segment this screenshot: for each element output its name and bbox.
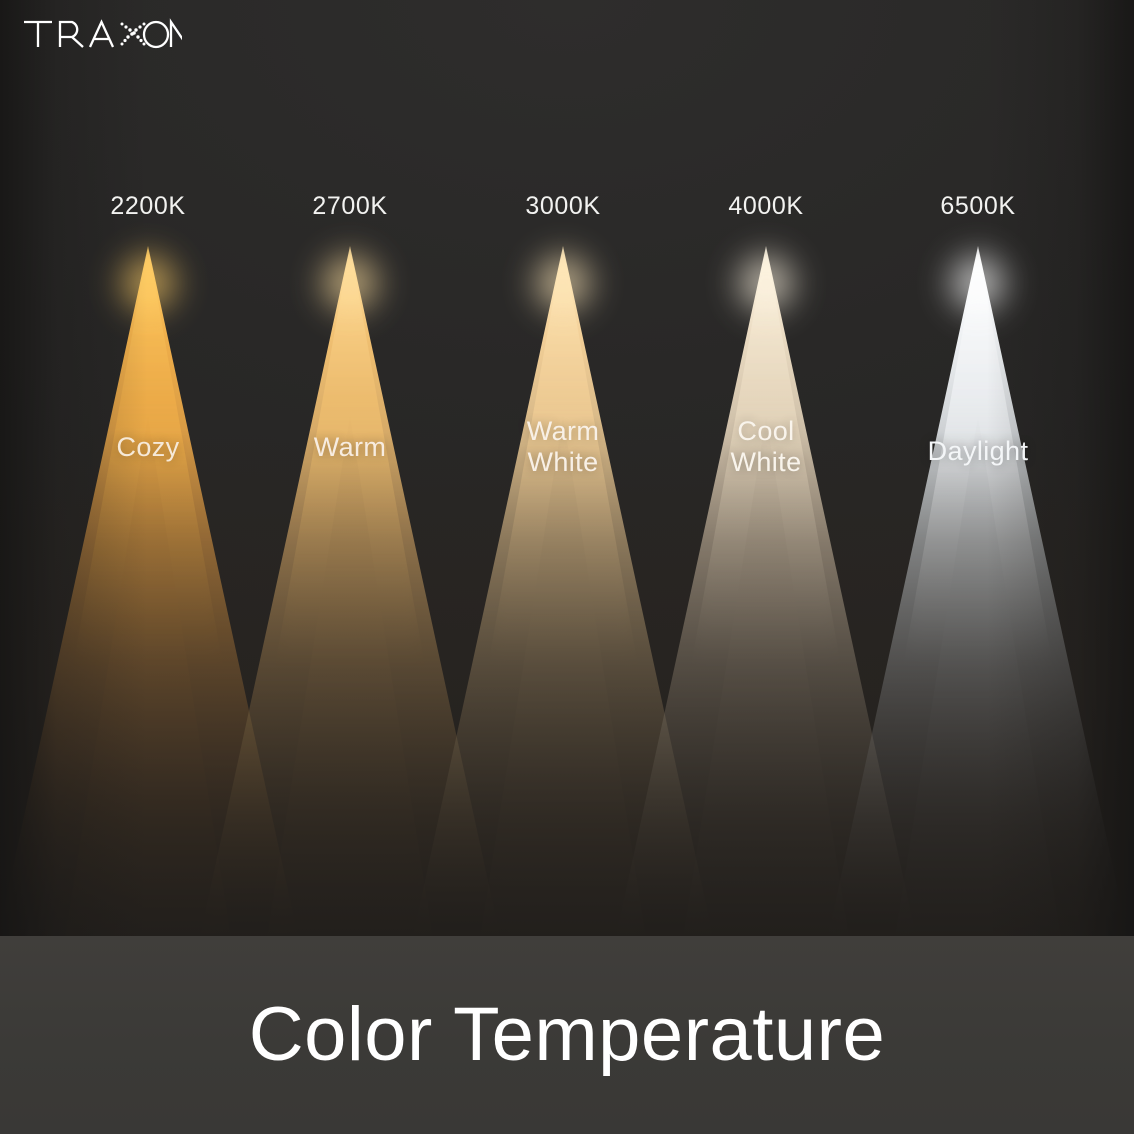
beam-cone bbox=[828, 246, 1128, 936]
beam-name-label-2700: Warm bbox=[314, 432, 387, 463]
dotted-x-glyph bbox=[121, 23, 146, 46]
brand-logo[interactable] bbox=[22, 17, 182, 51]
kelvin-label-4000: 4000K bbox=[728, 192, 803, 221]
beam-apex-glow bbox=[520, 240, 606, 326]
beam-apex-glow bbox=[307, 240, 393, 326]
beam-name-label-2200: Cozy bbox=[116, 432, 179, 463]
kelvin-label-3000: 3000K bbox=[525, 192, 600, 221]
page-title: Color Temperature bbox=[249, 997, 886, 1073]
beam-apex-glow bbox=[105, 240, 191, 326]
traxon-dotted-x-logo bbox=[22, 17, 182, 51]
beam-cone bbox=[413, 246, 713, 936]
beam-name-label-3000: Warm White bbox=[527, 416, 600, 478]
beam-spill bbox=[661, 416, 871, 936]
beam-spill bbox=[873, 416, 1083, 936]
color-temperature-infographic: 2200KCozy2700KWarm3000KWarm White4000KCo… bbox=[0, 0, 1134, 1134]
beam-cone bbox=[0, 246, 298, 936]
kelvin-label-6500: 6500K bbox=[940, 192, 1015, 221]
beam-spill bbox=[43, 416, 253, 936]
caption-band: Color Temperature bbox=[0, 936, 1134, 1134]
beam-cone bbox=[616, 246, 916, 936]
beam-apex-glow bbox=[935, 240, 1021, 326]
kelvin-label-2200: 2200K bbox=[110, 192, 185, 221]
beam-cone bbox=[200, 246, 500, 936]
beam-name-label-6500: Daylight bbox=[928, 436, 1029, 467]
beam-spill bbox=[245, 416, 455, 936]
beam-name-label-4000: Cool White bbox=[730, 416, 801, 478]
kelvin-label-2700: 2700K bbox=[312, 192, 387, 221]
beam-spill bbox=[458, 416, 668, 936]
beam-apex-glow bbox=[723, 240, 809, 326]
